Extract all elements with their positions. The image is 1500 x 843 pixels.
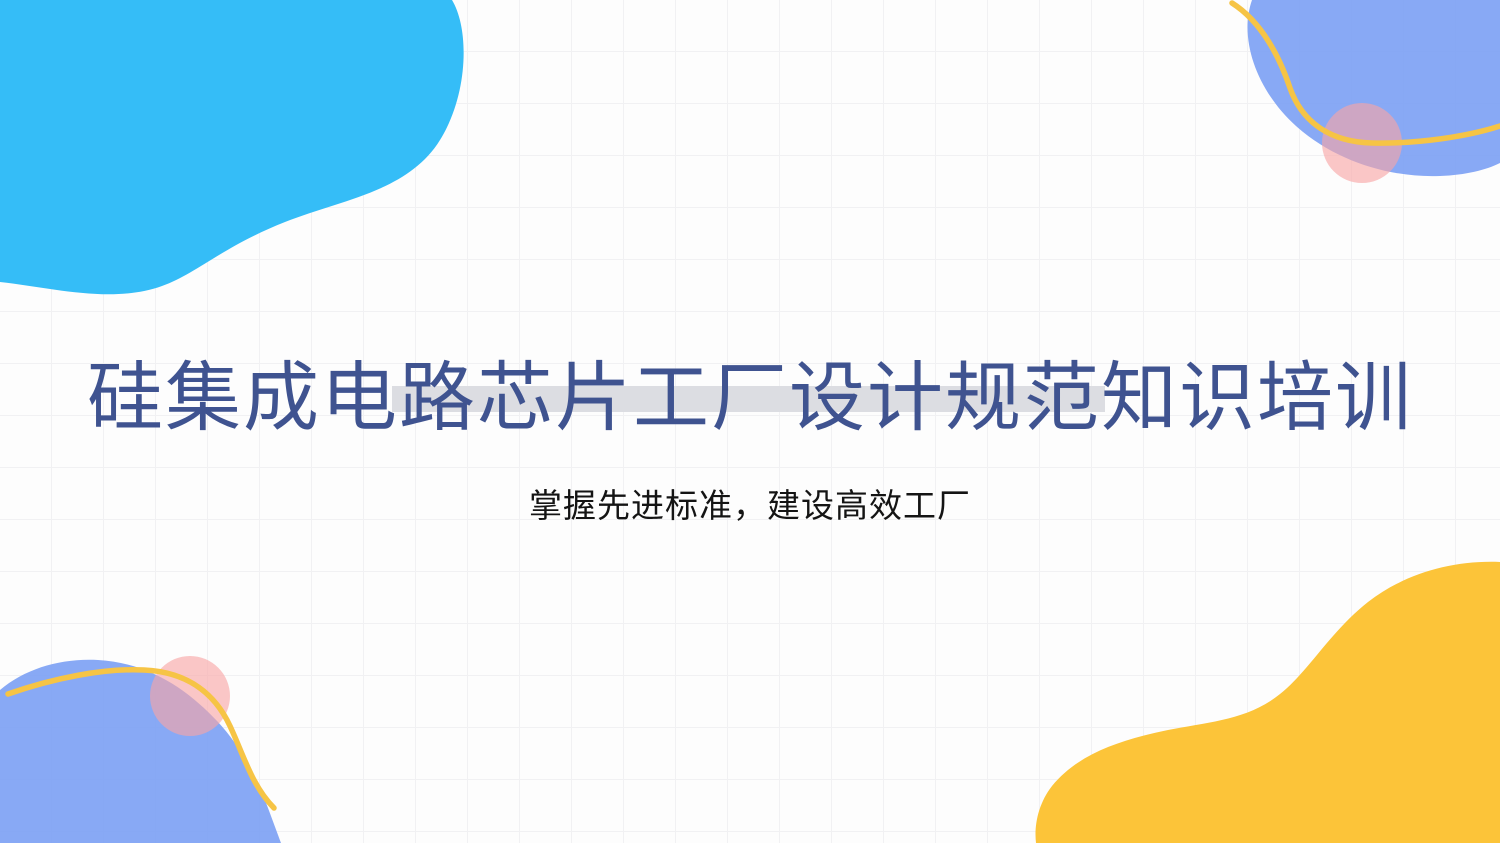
slide-subtitle: 掌握先进标准，建设高效工厂 [529,485,971,529]
subtitle-container: 掌握先进标准，建设高效工厂 [0,452,1500,562]
slide-text-block: 硅集成电路芯片工厂设计规范知识培训 掌握先进标准，建设高效工厂 [0,0,1500,843]
page-title: 硅集成电路芯片工厂设计规范知识培训 [87,351,1413,447]
title-slide: 硅集成电路芯片工厂设计规范知识培训 掌握先进标准，建设高效工厂 [0,0,1500,843]
